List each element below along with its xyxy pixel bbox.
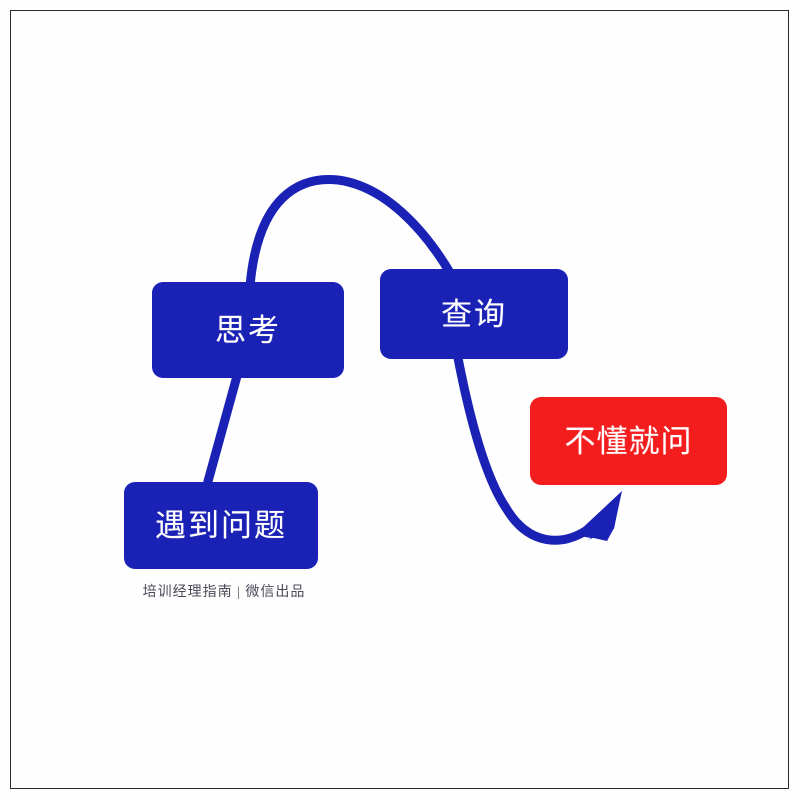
node-ask-label: 不懂就问 bbox=[565, 426, 693, 457]
watermark-caption: 培训经理指南 | 微信出品 bbox=[124, 581, 324, 601]
edge-problem-to-think bbox=[207, 376, 237, 485]
node-ask[interactable]: 不懂就问 bbox=[530, 397, 727, 485]
node-problem-label: 遇到问题 bbox=[155, 510, 287, 541]
diagram-canvas: 遇到问题 思考 查询 不懂就问 培训经理指南 | 微信出品 bbox=[0, 0, 800, 800]
node-think-label: 思考 bbox=[215, 315, 281, 346]
node-query[interactable]: 查询 bbox=[380, 269, 568, 359]
node-problem[interactable]: 遇到问题 bbox=[124, 482, 318, 569]
node-query-label: 查询 bbox=[441, 299, 507, 330]
arrowhead-icon-body bbox=[576, 491, 622, 541]
node-think[interactable]: 思考 bbox=[152, 282, 344, 378]
